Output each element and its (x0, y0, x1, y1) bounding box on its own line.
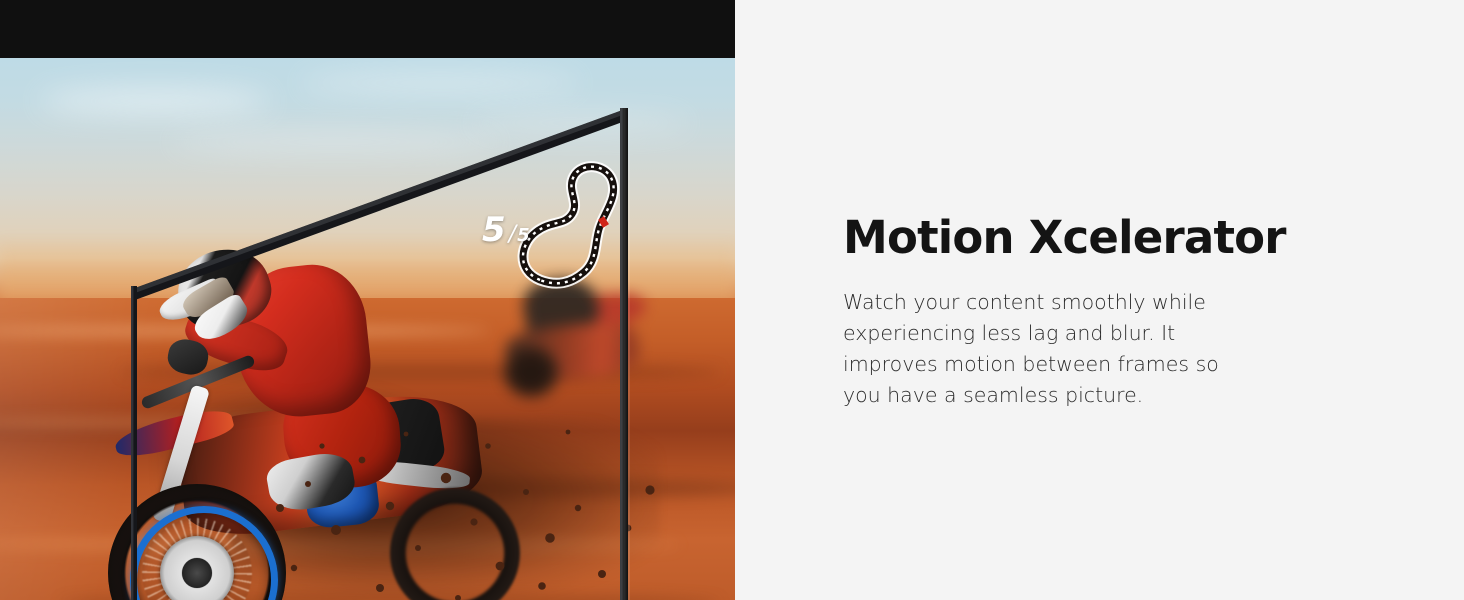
lap-separator: / (509, 222, 516, 247)
cloud-wisp (470, 114, 690, 132)
feature-copy-panel: Motion Xcelerator Watch your content smo… (735, 0, 1464, 600)
background-rider-blurred (500, 273, 660, 403)
flying-dirt-clods (250, 388, 680, 600)
wheel-hub (182, 558, 212, 588)
motocross-photo: 5/5 (0, 58, 735, 600)
feature-description: Watch your content smoothly while experi… (843, 287, 1243, 411)
lap-total: 5 (517, 225, 530, 246)
cloud-wisp (170, 132, 500, 152)
copy-block: Motion Xcelerator Watch your content smo… (843, 214, 1273, 411)
feature-banner: 5/5 (0, 0, 1464, 600)
lap-current: 5 (482, 210, 506, 250)
cloud-wisp (300, 72, 580, 94)
product-image-panel: 5/5 (0, 0, 735, 600)
race-hud-overlay: 5/5 (480, 148, 620, 288)
lap-counter: 5/5 (482, 210, 530, 250)
letterbox-bar-top (0, 0, 735, 58)
feature-headline: Motion Xcelerator (843, 214, 1273, 261)
cloud-wisp (40, 88, 270, 114)
